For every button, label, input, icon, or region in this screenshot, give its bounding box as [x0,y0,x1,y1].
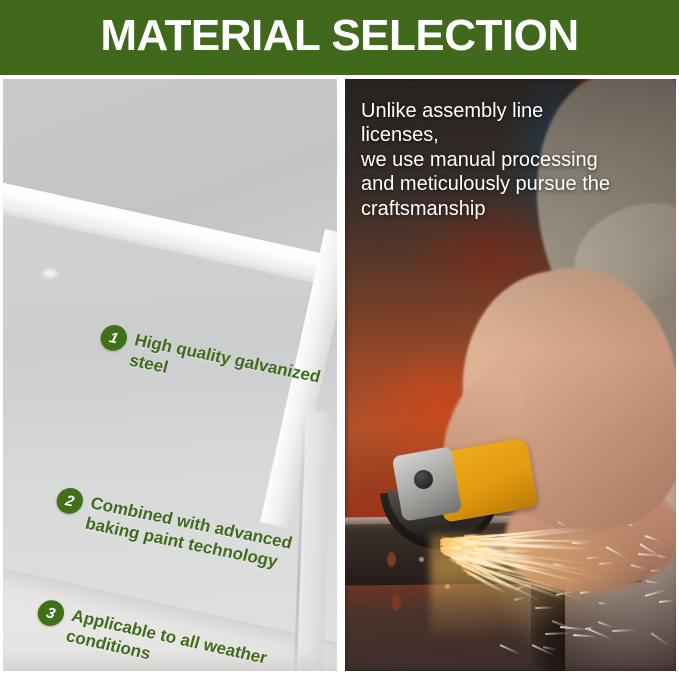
beam-hole-1 [387,552,396,567]
feature-badge-2: 2 [54,486,86,516]
feature-badge-1: 1 [98,323,130,353]
grinder-spindle-lock [414,470,433,489]
panel-gloss-highlight [43,269,57,278]
right-process-photo: Unlike assembly line licenses, we use ma… [345,79,676,671]
beam-rivet-1 [419,557,424,562]
process-headline: Unlike assembly line licenses, we use ma… [361,99,626,221]
beam-hole-2 [392,595,401,610]
header-banner: MATERIAL SELECTION [0,0,679,75]
page-title: MATERIAL SELECTION [0,0,679,75]
feature-badge-3: 3 [35,598,67,629]
left-product-photo: 1 High quality galvanized steel 2 Combin… [3,79,337,671]
infographic-canvas: MATERIAL SELECTION 1 High quality galvan… [0,0,679,678]
